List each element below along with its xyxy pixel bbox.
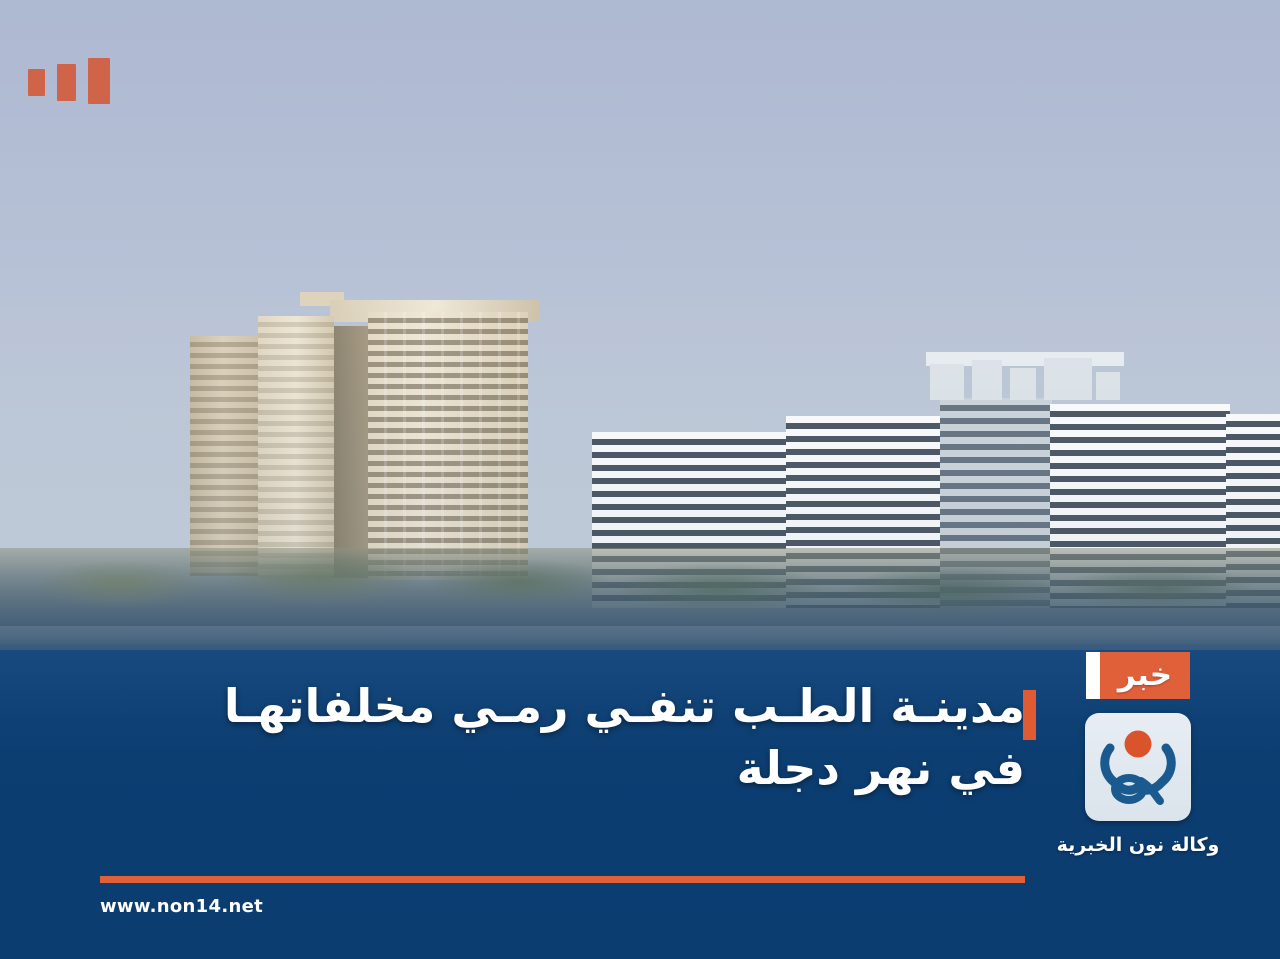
website-url: www.non14.net: [100, 896, 263, 917]
brand-column: خبر وكالة نون الخبرية: [1052, 652, 1224, 856]
news-badge: خبر: [1086, 652, 1190, 699]
noon-agency-logo-icon: [1097, 725, 1179, 809]
news-card: مدينـة الطـب تنفـي رمـي مخلفاتهـا في نهر…: [0, 0, 1280, 959]
agency-name: وكالة نون الخبرية: [1057, 834, 1220, 856]
three-bars-mark: [28, 58, 110, 104]
headline-line-1: مدينـة الطـب تنفـي رمـي مخلفاتهـا: [65, 676, 1025, 738]
headline-orange-marker: [1023, 690, 1036, 740]
badge-white-tick: [1086, 652, 1100, 699]
headline: مدينـة الطـب تنفـي رمـي مخلفاتهـا في نهر…: [65, 676, 1025, 799]
navy-gradient-overlay: [0, 300, 1280, 959]
footer-divider: [100, 876, 1025, 883]
bar-tall-icon: [88, 58, 110, 104]
bar-medium-icon: [57, 64, 76, 101]
headline-line-2: في نهر دجلة: [65, 738, 1025, 800]
bar-short-icon: [28, 69, 45, 96]
agency-logo: [1085, 713, 1191, 821]
news-badge-label: خبر: [1100, 652, 1190, 699]
